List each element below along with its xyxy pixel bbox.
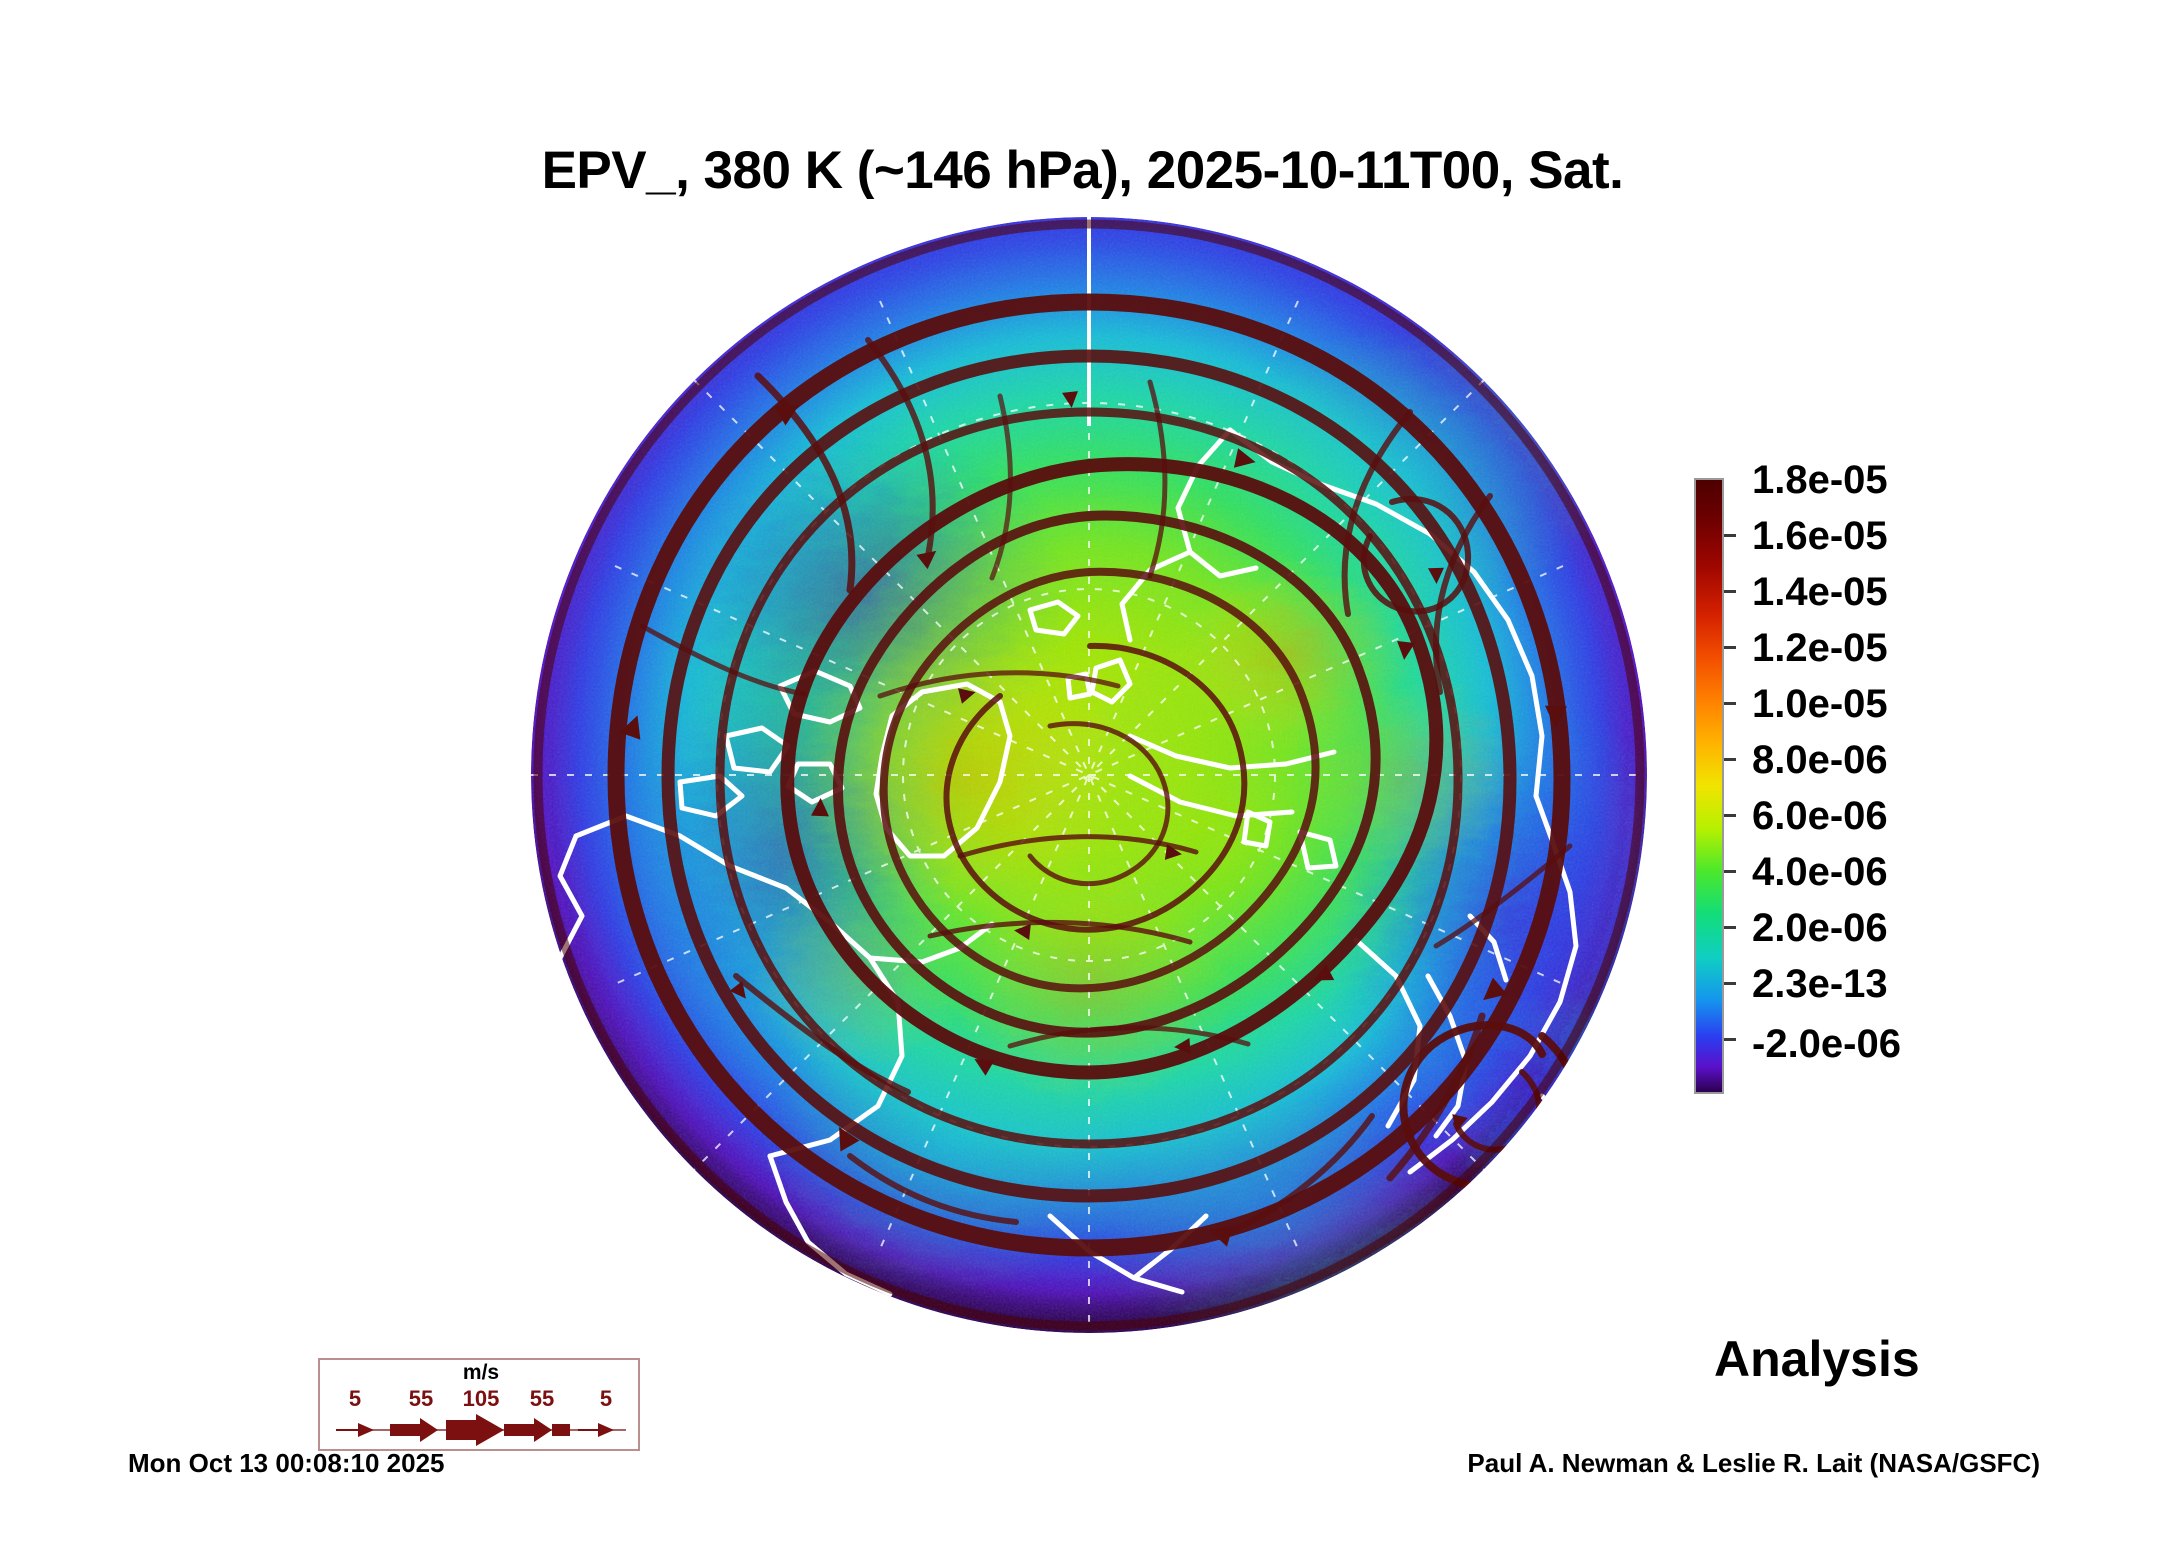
- colorbar-tick: [1724, 926, 1736, 929]
- colorbar-label: 2.0e-06: [1752, 906, 1888, 951]
- colorbar-label: 2.3e-13: [1752, 962, 1888, 1007]
- map-field: [530, 216, 1648, 1334]
- wind-tick-labels: 5 55 105 55 5: [320, 1386, 642, 1412]
- polar-map-svg: [530, 216, 1648, 1334]
- wind-tick-label: 55: [530, 1386, 554, 1412]
- author-credit: Paul A. Newman & Leslie R. Lait (NASA/GS…: [1467, 1448, 2040, 1479]
- wind-tick-label: 105: [463, 1386, 500, 1412]
- colorbar-label: 1.0e-05: [1752, 682, 1888, 727]
- colorbar-tick: [1724, 758, 1736, 761]
- colorbar-tick: [1724, 1038, 1736, 1041]
- colorbar-label: -2.0e-06: [1752, 1022, 1901, 1067]
- colorbar-tick: [1724, 870, 1736, 873]
- colorbar-label: 8.0e-06: [1752, 738, 1888, 783]
- colorbar-tick: [1724, 646, 1736, 649]
- colorbar-tick: [1724, 702, 1736, 705]
- page-title: EPV_, 380 K (~146 hPa), 2025-10-11T00, S…: [0, 140, 2165, 201]
- wind-tick-label: 5: [349, 1386, 361, 1412]
- colorbar-tick: [1724, 590, 1736, 593]
- colorbar-tick: [1724, 534, 1736, 537]
- colorbar-label: 4.0e-06: [1752, 850, 1888, 895]
- colorbar-label: 6.0e-06: [1752, 794, 1888, 839]
- wind-speed-legend: m/s 5 55 105 55 5: [318, 1358, 640, 1451]
- wind-units-label: m/s: [320, 1361, 642, 1385]
- wind-arrow-scale: [320, 1412, 642, 1448]
- colorbar-label: 1.2e-05: [1752, 626, 1888, 671]
- colorbar-label: 1.6e-05: [1752, 514, 1888, 559]
- colorbar-label: 1.8e-05: [1752, 458, 1888, 503]
- polar-map-globe: [530, 216, 1648, 1334]
- colorbar: 1.8e-05 1.6e-05 1.4e-05 1.2e-05 1.0e-05 …: [1694, 474, 2114, 1114]
- colorbar-tick: [1724, 814, 1736, 817]
- colorbar-gradient: [1694, 478, 1724, 1094]
- colorbar-tick: [1724, 982, 1736, 985]
- wind-tick-label: 55: [409, 1386, 433, 1412]
- analysis-label: Analysis: [1714, 1330, 1920, 1388]
- colorbar-label: 1.4e-05: [1752, 570, 1888, 615]
- wind-tick-label: 5: [600, 1386, 612, 1412]
- render-timestamp: Mon Oct 13 00:08:10 2025: [128, 1448, 445, 1479]
